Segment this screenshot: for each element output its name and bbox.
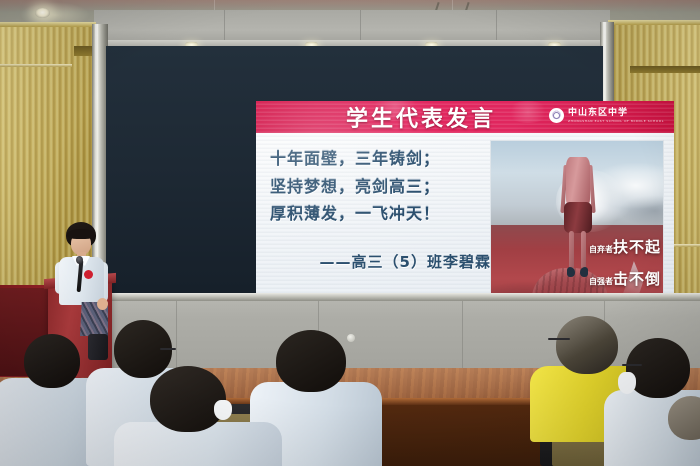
caption-prefix: 自弃者 — [589, 245, 613, 254]
ceiling-downlight-icon — [35, 8, 50, 18]
caption-emphasis: 击不倒 — [613, 270, 661, 288]
caption-emphasis: 扶不起 — [613, 238, 661, 256]
wall-niche — [630, 66, 700, 73]
school-seal-icon — [549, 108, 564, 123]
wall-top-cap — [0, 22, 96, 27]
figure-left-leg — [569, 231, 574, 269]
figure-shorts — [564, 202, 591, 233]
photo-caption-line-2: 自强者击不倒 — [589, 268, 661, 289]
glasses-icon — [160, 348, 176, 350]
audience-head — [24, 334, 80, 388]
led-screen-bezel: 学生代表发言 中山东区中学 ZHONGSHAN EAST SCHOOL OF M… — [106, 46, 603, 293]
audience-head — [276, 330, 346, 392]
school-name-cn: 中山东区中学 — [568, 109, 664, 118]
school-logo: 中山东区中学 ZHONGSHAN EAST SCHOOL OF MIDDLE S… — [549, 108, 664, 123]
verse-line: 十年面壁，三年铸剑； — [270, 145, 485, 173]
school-logo-text: 中山东区中学 ZHONGSHAN EAST SCHOOL OF MIDDLE S… — [568, 109, 664, 123]
slide-verse-block: 十年面壁，三年铸剑； 坚持梦想，亮剑高三； 厚积薄发，一飞冲天！ — [270, 145, 485, 228]
face-mask-icon — [214, 400, 232, 420]
speaker-badge-icon — [84, 270, 93, 279]
soffit-seam — [224, 10, 225, 41]
figure-right-leg — [581, 231, 586, 269]
audience-head — [626, 338, 690, 398]
figure-right-shoe — [580, 267, 588, 278]
slide-title: 学生代表发言 — [256, 103, 586, 131]
screenshot-root: 学生代表发言 中山东区中学 ZHONGSHAN EAST SCHOOL OF M… — [0, 0, 700, 466]
audience-member-center-masked — [128, 366, 260, 466]
audience-member-edge — [668, 396, 700, 466]
figure-torso — [566, 157, 590, 205]
soffit-seam — [360, 10, 361, 41]
verse-line: 坚持梦想，亮剑高三； — [270, 173, 485, 201]
speaker-bangs — [67, 229, 95, 239]
face-mask-icon — [618, 372, 636, 394]
audience-head — [556, 316, 618, 374]
figure-left-shoe — [567, 267, 575, 278]
speaker-hand — [97, 298, 108, 310]
photo-caption-line-1: 自弃者扶不起 — [589, 236, 661, 257]
glasses-icon — [622, 364, 642, 366]
school-name-en: ZHONGSHAN EAST SCHOOL OF MIDDLE SCHOOL — [568, 120, 664, 123]
microphone-head-icon — [76, 256, 83, 264]
verse-line: 厚积薄发，一飞冲天！ — [270, 200, 485, 228]
glasses-icon — [548, 338, 570, 340]
wall-panel-seam — [462, 301, 463, 373]
soffit-seam — [496, 10, 497, 41]
wall-rail-trim — [0, 64, 72, 67]
slide-signature: ——高三（5）班李碧霖 — [286, 251, 491, 272]
photo-standing-figure — [562, 157, 595, 277]
audience-head — [668, 396, 700, 440]
audience-head — [150, 366, 226, 432]
caption-prefix: 自强者 — [589, 277, 613, 286]
wall-top-cap — [608, 20, 700, 25]
